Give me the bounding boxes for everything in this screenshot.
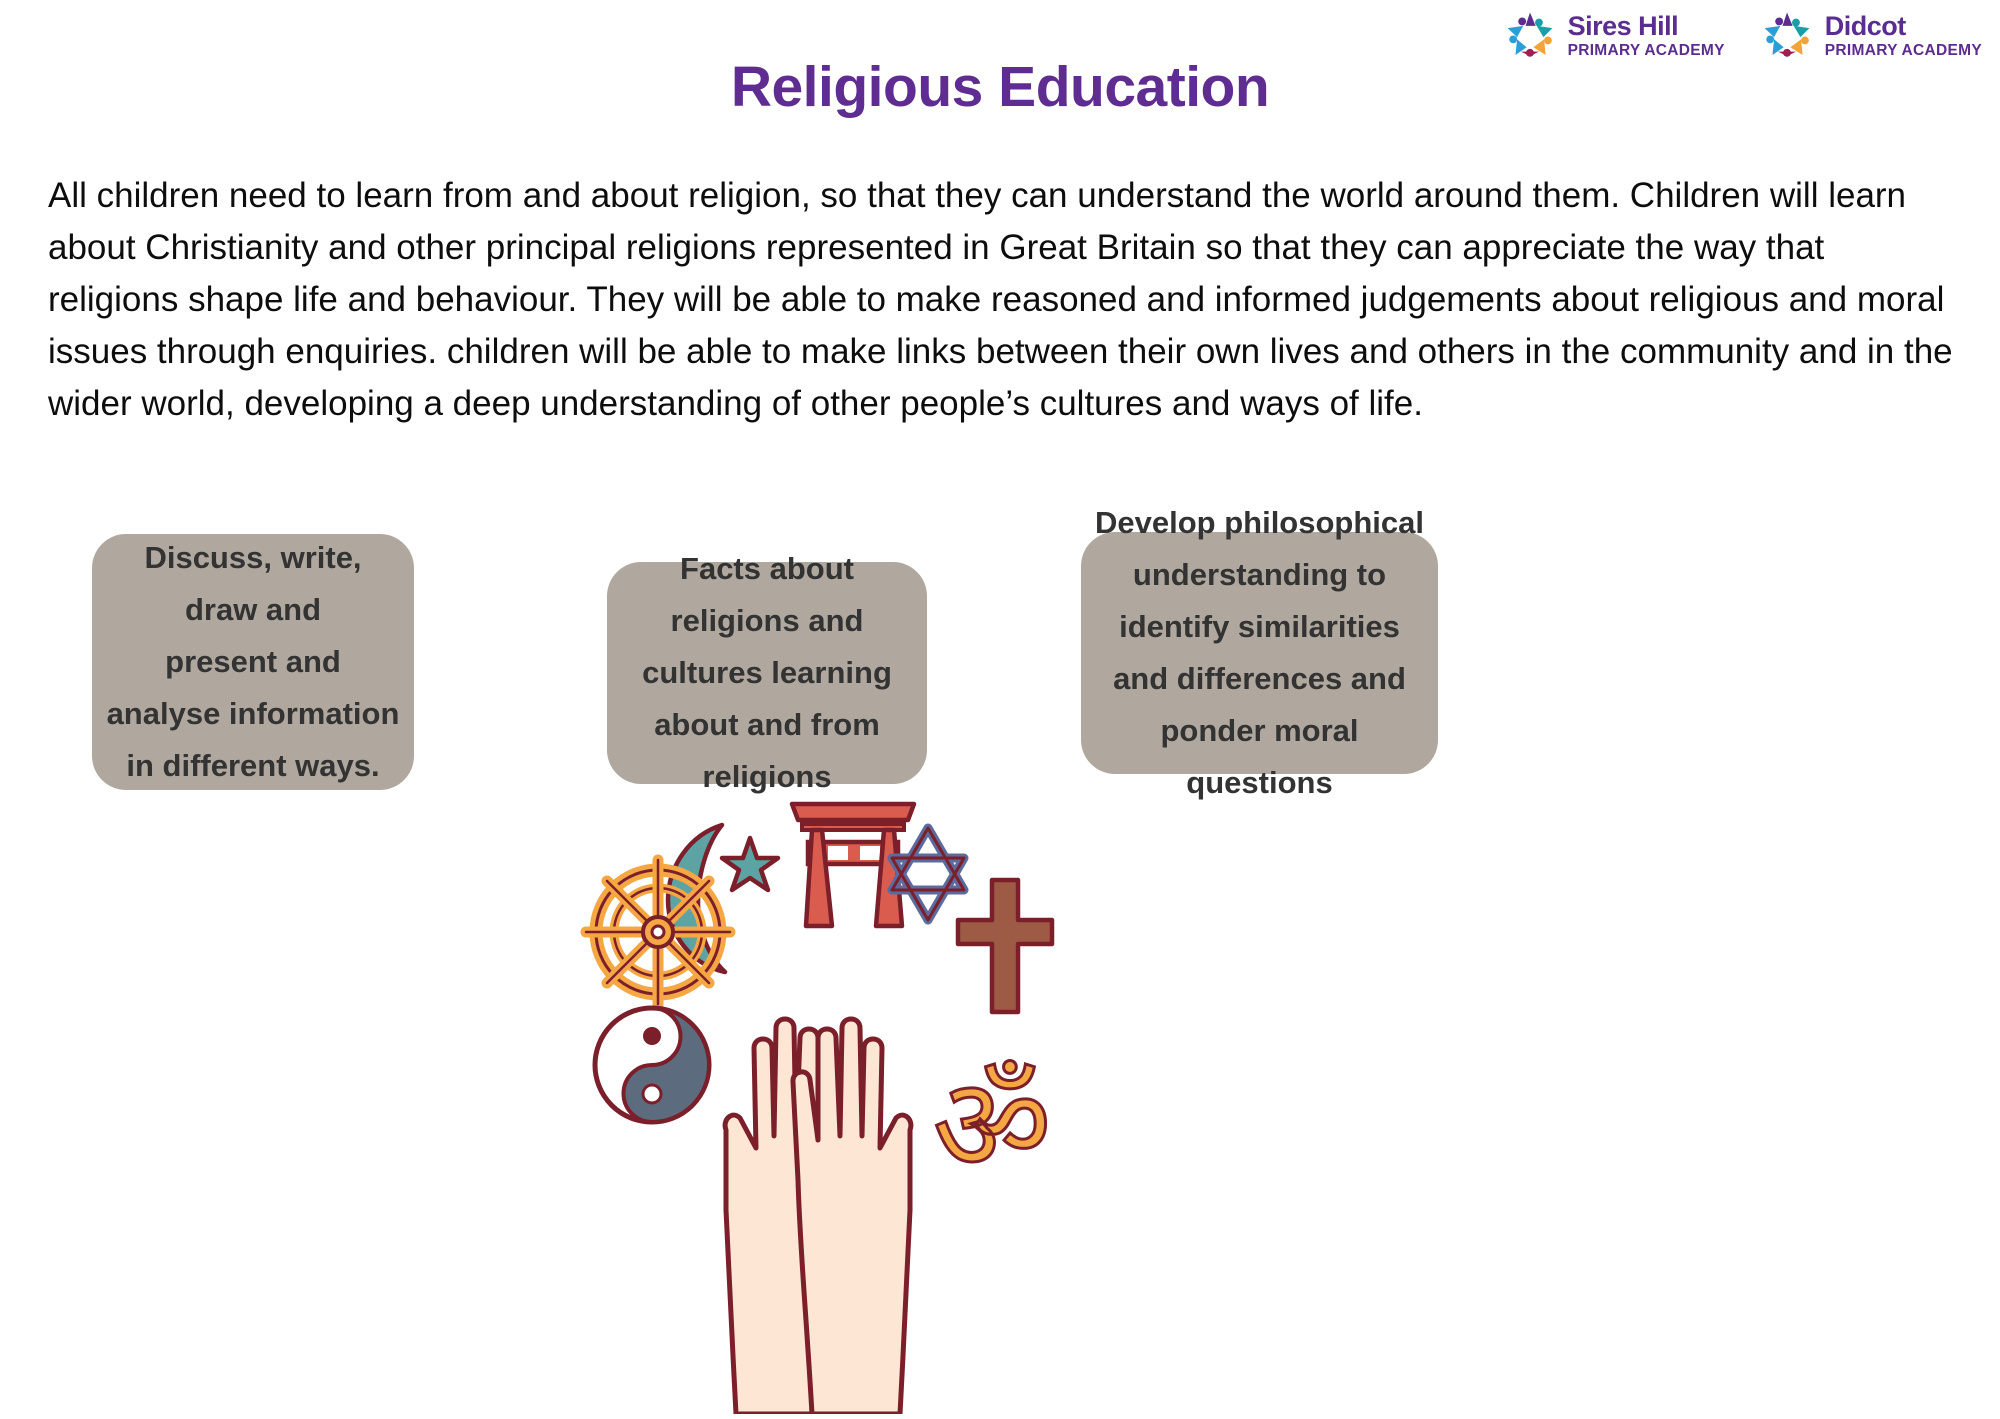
svg-text:ॐ: ॐ [933,1049,1052,1201]
logo-name: Sires Hill [1568,13,1725,40]
om-icon: ॐ [933,1049,1052,1201]
star-of-david-icon [892,828,964,920]
knowledge-box-practical: Discuss, write, draw andpresent and anal… [92,534,414,790]
knowledge-box-disciplinary: Develop philosophical understanding to i… [1081,532,1438,774]
yin-yang-icon [595,1008,709,1122]
latin-cross-icon [958,880,1052,1012]
knowledge-box-substantive: Facts about religions and cultures learn… [607,562,927,784]
page-title: Religious Education [0,54,2000,120]
logo-name: Didcot [1825,13,1982,40]
dharma-wheel-icon [586,860,730,1004]
intro-paragraph: All children need to learn from and abou… [48,170,1963,430]
open-hands-icon [725,1019,911,1414]
world-religions-illustration: ॐ [540,780,1100,1414]
